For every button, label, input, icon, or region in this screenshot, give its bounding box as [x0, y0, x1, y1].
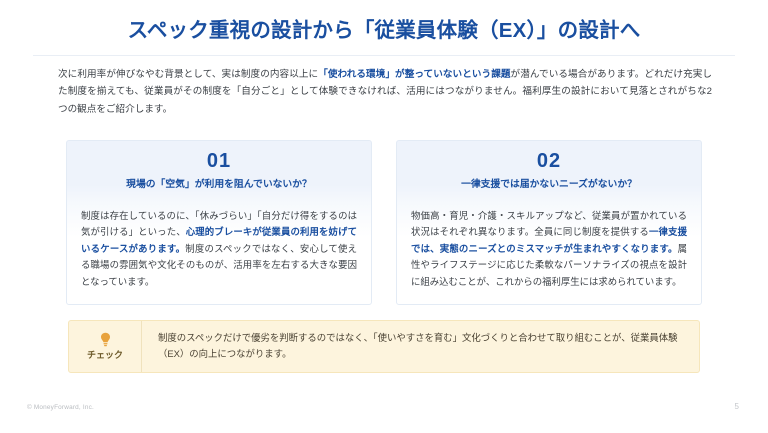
footer-copyright: © MoneyForward, Inc. — [27, 404, 94, 411]
cards-container: 01 現場の「空気」が利用を阻んでいないか？ 制度は存在しているのに、「休みづら… — [66, 140, 702, 305]
insight-card-02: 02 一律支援では届かないニーズがないか？ 物価高・育児・介護・スキルアップなど… — [396, 140, 702, 305]
intro-paragraph: 次に利用率が伸びなやむ背景として、実は制度の内容以上に「使われる環境」が整ってい… — [58, 66, 712, 118]
title-divider — [33, 55, 735, 56]
footer-page-number: 5 — [735, 402, 739, 411]
check-note: チェック 制度のスペックだけで優劣を判断するのではなく、「使いやすさを育む」文化… — [68, 320, 700, 373]
title-bar: スペック重視の設計から「従業員体験（EX）」の設計へ — [0, 0, 768, 56]
lightbulb-icon — [99, 332, 112, 347]
insight-card-01: 01 現場の「空気」が利用を阻んでいないか？ 制度は存在しているのに、「休みづら… — [66, 140, 372, 305]
card-body: 制度は存在しているのに、「休みづらい」「自分だけ得をするのは気が引ける」といった… — [67, 192, 371, 290]
check-label-group: チェック — [69, 321, 142, 372]
card-number: 01 — [67, 141, 371, 173]
check-note-text: 制度のスペックだけで優劣を判断するのではなく、「使いやすさを育む」文化づくりと合… — [142, 321, 699, 372]
card-heading: 一律支援では届かないニーズがないか？ — [397, 173, 701, 192]
slide-root: スペック重視の設計から「従業員体験（EX）」の設計へ 次に利用率が伸びなやむ背景… — [0, 0, 768, 433]
card-body: 物価高・育児・介護・スキルアップなど、従業員が置かれている状況はそれぞれ異なりま… — [397, 192, 701, 290]
card-heading: 現場の「空気」が利用を阻んでいないか？ — [67, 173, 371, 192]
check-label-text: チェック — [87, 350, 123, 361]
card-number: 02 — [397, 141, 701, 173]
page-title: スペック重視の設計から「従業員体験（EX）」の設計へ — [128, 13, 641, 43]
